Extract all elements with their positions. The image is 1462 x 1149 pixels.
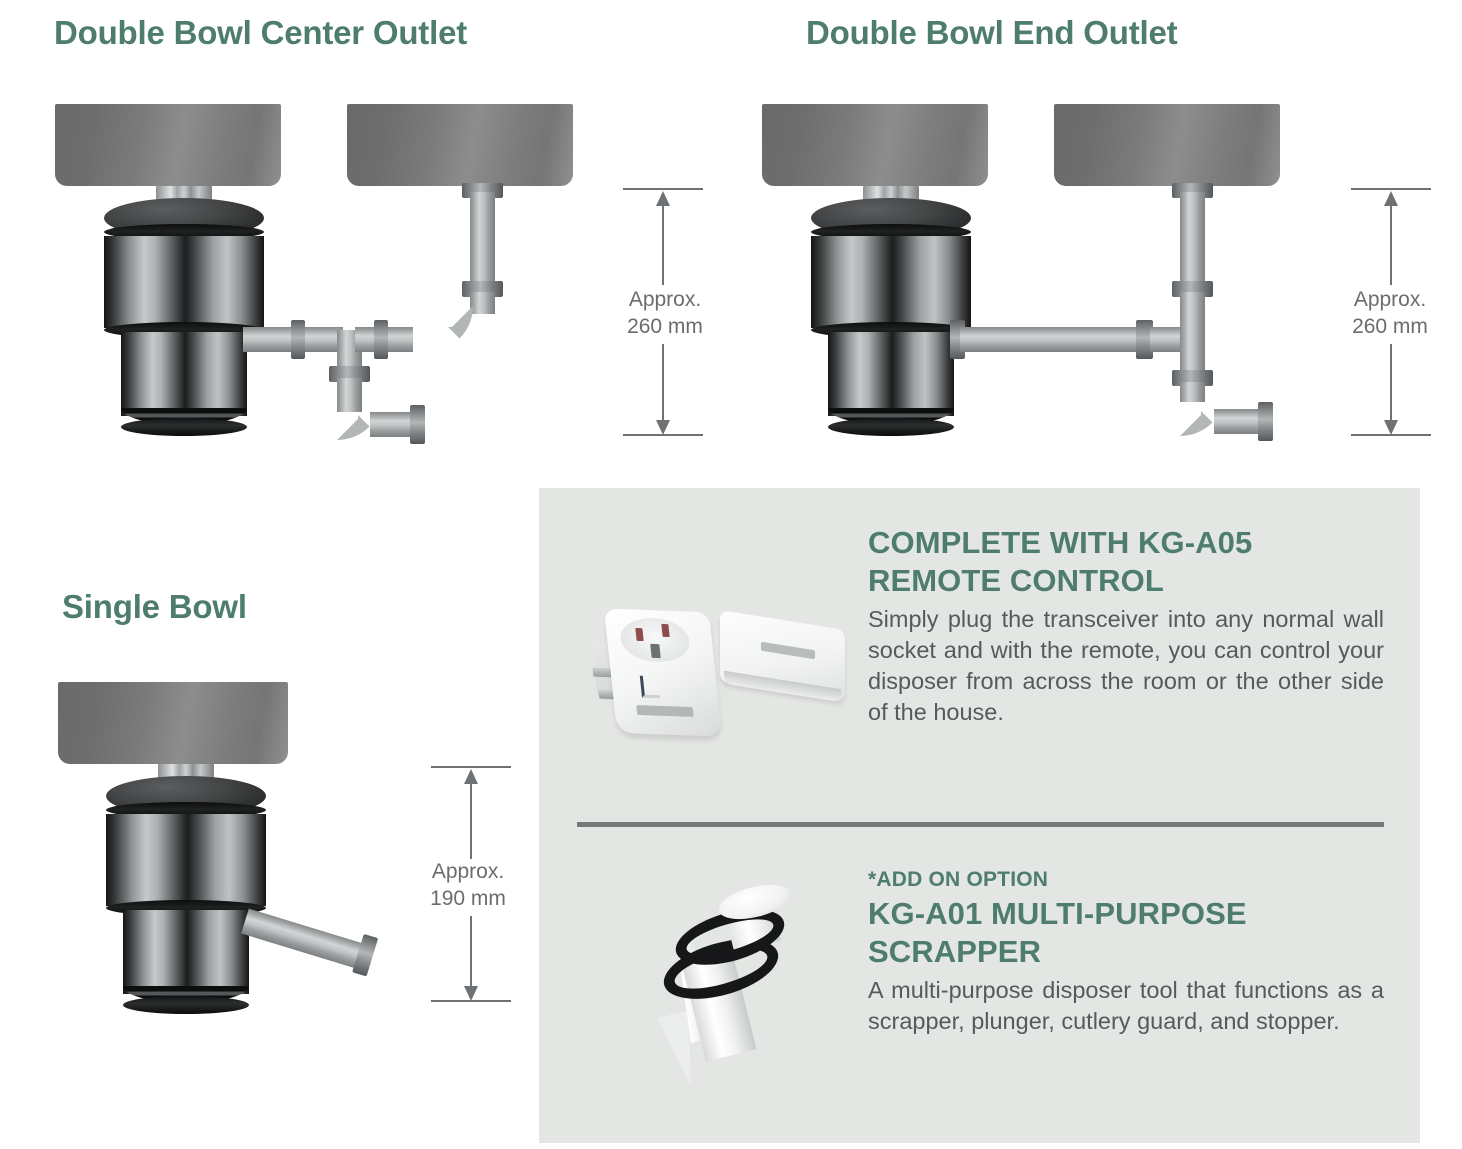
dimension-label-center-outlet: Approx. 260 mm <box>595 286 735 340</box>
dimension-arrowhead-top-end <box>1384 191 1398 206</box>
disposer-upper-chamber <box>104 236 264 328</box>
page-title-double-bowl-center-outlet: Double Bowl Center Outlet <box>54 14 467 52</box>
dimension-label-end-outlet: Approx. 260 mm <box>1320 286 1460 340</box>
infographic-root: Double Bowl Center Outlet Double Bowl En… <box>0 0 1462 1149</box>
dimension-approx-text-single: Approx. <box>432 860 504 883</box>
feature-block-scrapper: *ADD ON OPTION KG-A01 MULTI-PURPOSE SCRA… <box>868 866 1384 1037</box>
dimension-label-single-bowl: Approx. 190 mm <box>398 858 538 912</box>
dimension-line-upper-single <box>470 783 472 859</box>
scrapper-heading: KG-A01 MULTI-PURPOSE SCRAPPER <box>868 895 1384 971</box>
dimension-arrowhead-top <box>656 191 670 206</box>
dimension-line-lower-single <box>470 916 472 988</box>
dimension-line-upper <box>662 205 664 285</box>
end-outlet-tail-collar <box>1258 402 1273 441</box>
plug-power-switch <box>640 676 660 699</box>
dimension-approx-text: Approx. <box>629 288 701 311</box>
dimension-tick-top-single <box>431 766 511 768</box>
disposer-lower-chamber-end <box>828 332 954 416</box>
product-image-remote-transceiver <box>585 602 850 747</box>
drain-riser-lower <box>470 292 495 314</box>
dimension-line-lower <box>662 344 664 422</box>
disposer-foot <box>121 418 247 436</box>
drain-elbow <box>427 306 473 352</box>
scrapper-eyebrow: *ADD ON OPTION <box>868 866 1384 893</box>
dimension-end-outlet: Approx. 260 mm <box>1328 188 1443 438</box>
drain-riser-pipe <box>470 192 495 290</box>
socket-slot-live <box>635 628 643 641</box>
disposer-foot-end <box>828 418 954 436</box>
dimension-line-lower-end <box>1390 344 1392 422</box>
socket-slot-neutral <box>661 624 669 637</box>
dimension-tick-top <box>623 188 703 190</box>
dimension-value-text-end: 260 mm <box>1352 315 1428 338</box>
end-drain-riser <box>1180 192 1205 290</box>
outlet-end-collar <box>410 405 425 444</box>
dimension-center-outlet: Approx. 260 mm <box>600 188 715 438</box>
dimension-arrowhead-top-single <box>464 769 478 784</box>
disposer-unit-single <box>106 776 266 1018</box>
disposer-upper-chamber-single <box>106 814 266 906</box>
dimension-tick-bottom <box>623 434 703 436</box>
panel-divider <box>577 822 1384 827</box>
end-outlet-horizontal-pipe <box>960 327 1140 352</box>
disposer-unit-end <box>811 198 971 440</box>
sink-bowl-left-end <box>762 104 988 186</box>
dimension-approx-text-end: Approx. <box>1354 288 1426 311</box>
dimension-tick-top-end <box>1351 188 1431 190</box>
page-title-double-bowl-end-outlet: Double Bowl End Outlet <box>806 14 1177 52</box>
sink-bowl-right <box>347 104 573 186</box>
disposer-lower-chamber-single <box>123 910 249 994</box>
end-outlet-tail-pipe <box>1214 409 1262 434</box>
socket-slot-earth <box>650 644 661 658</box>
dimension-arrowhead-bottom-single <box>464 986 478 1001</box>
disposer-upper-chamber-end <box>811 236 971 328</box>
scrapper-body: A multi-purpose disposer tool that funct… <box>868 975 1384 1037</box>
disposer-foot-single <box>123 996 249 1014</box>
feature-block-remote-control: COMPLETE WITH KG-A05 REMOTE CONTROL Simp… <box>868 524 1384 728</box>
disposer-unit-left <box>104 198 264 440</box>
product-image-multipurpose-scrapper <box>640 885 825 1095</box>
sink-bowl-single <box>58 682 288 764</box>
remote-control-heading: COMPLETE WITH KG-A05 REMOTE CONTROL <box>868 524 1384 600</box>
disposer-outlet-pipe <box>243 327 323 352</box>
sink-bowl-left <box>55 104 281 186</box>
pipe-collar-1 <box>291 320 305 359</box>
pipe-collar-2 <box>374 320 388 359</box>
single-bowl-outlet-collar <box>352 934 378 977</box>
page-title-single-bowl: Single Bowl <box>62 588 247 626</box>
dimension-line-upper-end <box>1390 205 1392 285</box>
plug-brand-logo <box>636 705 694 717</box>
end-drain-riser-lower <box>1180 292 1205 378</box>
sink-bowl-right-end <box>1054 104 1280 186</box>
remote-control-body: Simply plug the transceiver into any nor… <box>868 604 1384 728</box>
dimension-value-text-single: 190 mm <box>430 887 506 910</box>
dimension-single-bowl: Approx. 190 mm <box>408 766 523 1006</box>
dimension-tick-bottom-single <box>431 1000 511 1002</box>
dimension-tick-bottom-end <box>1351 434 1431 436</box>
dimension-value-text: 260 mm <box>627 315 703 338</box>
dimension-arrowhead-bottom <box>656 420 670 435</box>
dimension-arrowhead-bottom-end <box>1384 420 1398 435</box>
disposer-lower-chamber <box>121 332 247 416</box>
